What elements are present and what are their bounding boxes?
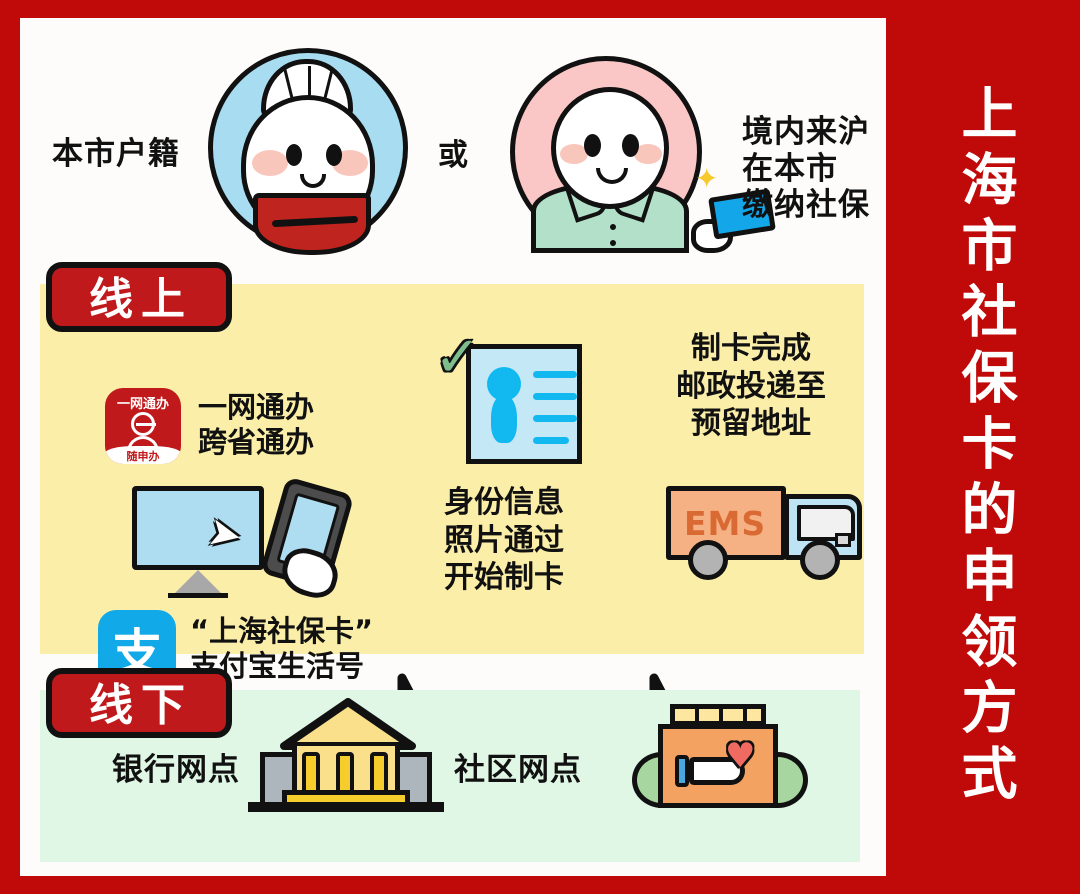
tag-offline: 线下 xyxy=(46,668,232,738)
bank-roof xyxy=(280,698,416,750)
step2-text: 身份信息 照片通过 开始制卡 xyxy=(444,484,564,597)
offline-bank-label: 银行网点 xyxy=(112,752,240,789)
community-awning xyxy=(670,704,766,726)
eligibility-local-label: 本市户籍 xyxy=(52,136,180,173)
step2-line2: 照片通过 xyxy=(444,522,564,560)
channel-alipay-line1: “上海社保卡” xyxy=(190,614,373,649)
yiwang-logo-base: 随申办 xyxy=(105,446,181,464)
channel-yiwang-line1: 一网通办 xyxy=(198,390,314,425)
eligibility-nonlocal-line1: 境内来沪 xyxy=(742,114,870,151)
eligibility-nonlocal-line2: 在本市 xyxy=(742,151,870,188)
yiwang-e-glyph xyxy=(131,412,155,436)
tag-online: 线上 xyxy=(46,262,232,332)
desktop-monitor-icon xyxy=(132,486,264,570)
truck-wheel-front xyxy=(800,540,840,580)
step2-line1: 身份信息 xyxy=(444,484,564,522)
truck-door-panel xyxy=(835,533,851,547)
avatar-local-resident xyxy=(208,48,408,248)
truck-wheel-rear xyxy=(688,540,728,580)
mascot-red-scarf xyxy=(253,193,371,255)
person-face xyxy=(551,87,669,209)
offline-community-label: 社区网点 xyxy=(454,752,582,789)
truck-ems-label: EMS xyxy=(684,504,766,543)
yiwang-logo-bottom-text: 随申办 xyxy=(105,448,181,464)
eligibility-nonlocal-line3: 缴纳社保 xyxy=(742,187,870,224)
step3-line3: 预留地址 xyxy=(676,405,826,443)
thumbs-up-base xyxy=(675,755,689,787)
eligibility-section: 本市户籍 或 xyxy=(20,18,886,268)
eligibility-nonlocal-label: 境内来沪 在本市 缴纳社保 xyxy=(742,114,870,224)
poster-title: 上海市社保卡的申领方式 xyxy=(956,84,1012,810)
step2-line3: 开始制卡 xyxy=(444,559,564,597)
id-photo-body xyxy=(491,395,517,443)
id-document-icon xyxy=(466,344,582,464)
step3-line1: 制卡完成 xyxy=(676,330,826,368)
avatar-nonlocal-resident: ✦ xyxy=(510,56,702,248)
channel-yiwang-line2: 跨省通办 xyxy=(198,425,314,460)
online-section-panel: 一网通办 随申办 一网通办 跨省通办 ➤ 支 “上海社保卡” xyxy=(40,284,864,654)
poster-root: 本市户籍 或 xyxy=(0,0,1080,894)
vertical-title-bar: 上海市社保卡的申领方式 xyxy=(888,0,1080,894)
green-checkmark-icon: ✓ xyxy=(434,330,481,386)
step3-text: 制卡完成 邮政投递至 预留地址 xyxy=(676,330,826,443)
sparkle-icon: ✦ xyxy=(695,165,718,193)
monitor-stand-outline xyxy=(168,568,228,598)
yiwangtongban-app-icon[interactable]: 一网通办 随申办 xyxy=(105,388,181,464)
channel-yiwang-label: 一网通办 跨省通办 xyxy=(198,390,314,460)
yiwang-logo-top-text: 一网通办 xyxy=(105,393,181,412)
bank-ground xyxy=(248,802,444,812)
eligibility-connector: 或 xyxy=(438,138,469,173)
community-building-body: ♥ xyxy=(658,724,778,808)
step3-line2: 邮政投递至 xyxy=(676,368,826,406)
heart-icon: ♥ xyxy=(725,739,755,773)
